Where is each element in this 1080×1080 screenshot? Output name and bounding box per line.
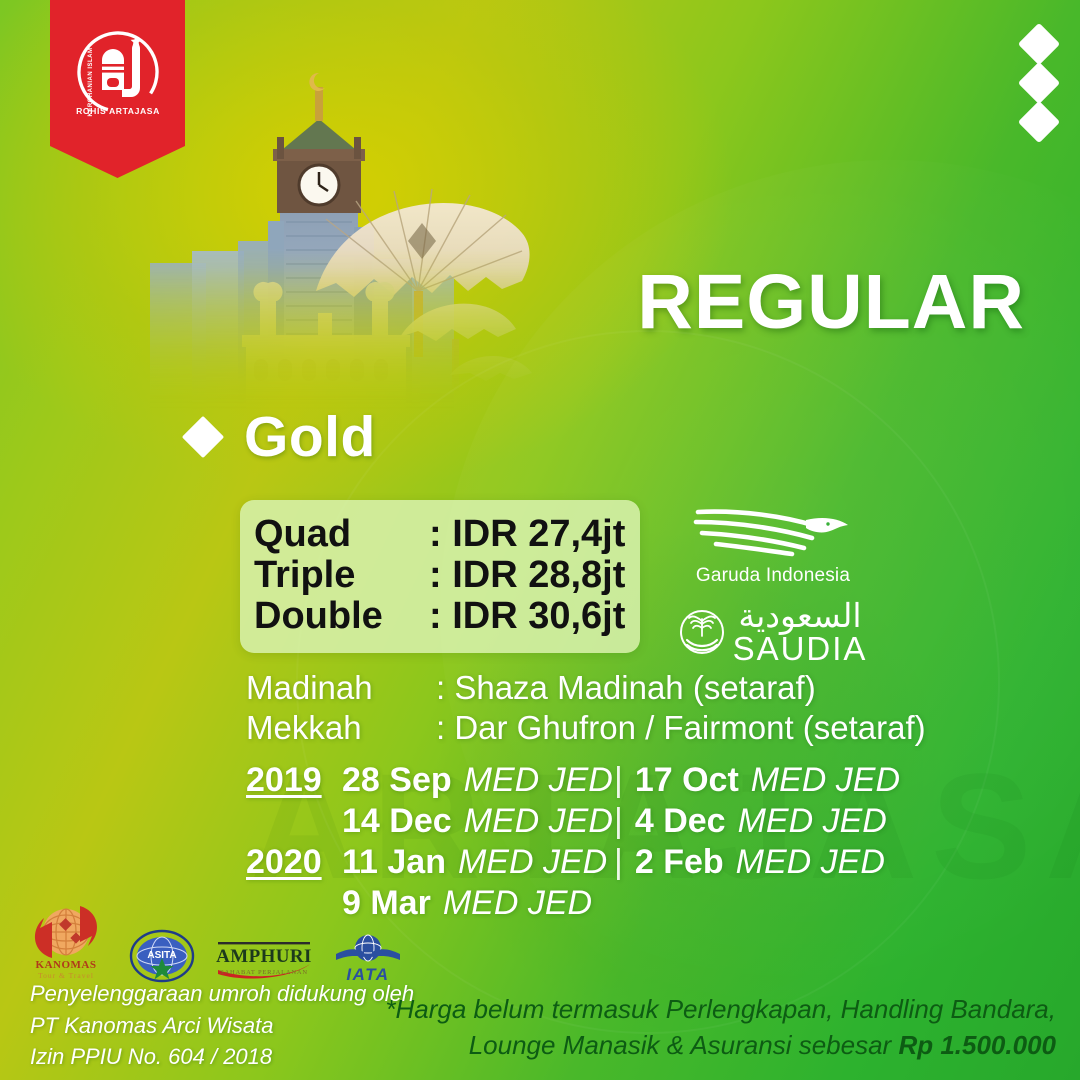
- garuda-indonesia-label: Garuda Indonesia: [668, 565, 878, 587]
- footer-line: PT Kanomas Arci Wisata: [30, 1010, 414, 1041]
- diamond-icon: [1018, 23, 1060, 65]
- schedule-year: 2019: [246, 762, 342, 799]
- price-disclaimer: *Harga belum termasuk Perlengkapan, Hand…: [366, 992, 1056, 1064]
- disclaimer-line-2: Lounge Manasik & Asuransi sebesar Rp 1.5…: [366, 1028, 1056, 1064]
- brand-ribbon: ROHIS ARTAJASA KEROHANIAN ISLAM: [50, 0, 185, 178]
- departure-date: 11 Jan: [342, 844, 446, 881]
- airline-logos: Garuda Indonesia السع: [668, 498, 878, 665]
- schedule-slot: 4 Dec MED JED: [635, 803, 887, 840]
- schedule-separator: |: [614, 803, 623, 840]
- route-label: MED JED: [443, 885, 592, 922]
- route-label: MED JED: [458, 844, 607, 881]
- svg-text:ASITA: ASITA: [147, 950, 176, 961]
- route-label: MED JED: [464, 762, 613, 799]
- price-row: Double : IDR 30,6jt: [240, 596, 640, 637]
- tier-name: Gold: [244, 404, 376, 470]
- departure-date: 28 Sep: [342, 762, 452, 799]
- schedule-row: 2020 11 Jan MED JED | 2 Feb MED JED: [246, 844, 900, 885]
- saudia-latin-label: SAUDIA: [733, 632, 868, 665]
- saudia-palm-swords-icon: [679, 606, 725, 658]
- price-row: Triple : IDR 28,8jt: [240, 555, 640, 596]
- hotel-city-label: Madinah: [246, 668, 436, 708]
- tier-row: Gold: [188, 404, 376, 470]
- schedule-row: 2019 28 Sep MED JED | 17 Oct MED JED: [246, 762, 900, 803]
- diamond-bullet-icon: [182, 416, 224, 458]
- schedule-slot: 17 Oct MED JED: [635, 762, 900, 799]
- saudia-logo: السعودية SAUDIA: [668, 599, 878, 665]
- diamond-icon: [1018, 101, 1060, 143]
- price-value: : IDR 28,8jt: [429, 555, 625, 596]
- schedule-year: 2020: [246, 844, 342, 881]
- schedule-slot: 14 Dec MED JED: [342, 803, 614, 840]
- schedule-slot: 11 Jan MED JED: [342, 844, 614, 881]
- price-label: Triple: [254, 555, 429, 596]
- disclaimer-amount: Rp 1.500.000: [898, 1030, 1056, 1060]
- hotel-name-value: : Dar Ghufron / Fairmont (setaraf): [436, 708, 926, 748]
- asita-logo-icon: ASITA: [128, 928, 196, 984]
- route-label: MED JED: [738, 803, 887, 840]
- hotel-name-value: : Shaza Madinah (setaraf): [436, 668, 816, 708]
- price-row: Quad : IDR 27,4jt: [240, 514, 640, 555]
- partner-logo-row: KANOMAS Tour & Travel ASITA AMPHURI SAHA…: [20, 898, 404, 984]
- svg-text:KEROHANIAN ISLAM: KEROHANIAN ISLAM: [88, 48, 94, 117]
- svg-text:KANOMAS: KANOMAS: [36, 959, 97, 971]
- schedule-separator: |: [614, 762, 623, 799]
- schedule-slot: 2 Feb MED JED: [635, 844, 885, 881]
- schedule-row: 14 Dec MED JED | 4 Dec MED JED: [246, 803, 900, 844]
- hotel-city-label: Mekkah: [246, 708, 436, 748]
- kanomas-logo-icon: KANOMAS Tour & Travel: [20, 898, 112, 984]
- garuda-indonesia-bird-icon: [688, 498, 858, 558]
- schedule-slot: 28 Sep MED JED: [342, 762, 614, 799]
- footer-company-info: Penyelenggaraan umroh didukung oleh PT K…: [30, 978, 414, 1072]
- diamond-decoration-group: [1024, 20, 1054, 146]
- disclaimer-line-1: *Harga belum termasuk Perlengkapan, Hand…: [366, 992, 1056, 1028]
- saudia-arabic-label: السعودية: [733, 599, 868, 632]
- price-label: Quad: [254, 514, 429, 555]
- disclaimer-text: Lounge Manasik & Asuransi sebesar: [469, 1030, 899, 1060]
- route-label: MED JED: [736, 844, 885, 881]
- price-value: : IDR 30,6jt: [429, 596, 625, 637]
- route-label: MED JED: [464, 803, 613, 840]
- hotel-list: Madinah : Shaza Madinah (setaraf) Mekkah…: [246, 668, 926, 749]
- departure-date: 14 Dec: [342, 803, 452, 840]
- hotel-row: Madinah : Shaza Madinah (setaraf): [246, 668, 926, 708]
- svg-text:SAHABAT PERJALANAN: SAHABAT PERJALANAN: [220, 969, 308, 976]
- schedule-separator: |: [614, 844, 623, 881]
- svg-text:AMPHURI: AMPHURI: [216, 946, 312, 967]
- footer-line: Izin PPIU No. 604 / 2018: [30, 1041, 414, 1072]
- package-title: REGULAR: [637, 258, 1025, 347]
- rohis-artajasa-emblem-icon: ROHIS ARTAJASA KEROHANIAN ISLAM: [66, 24, 170, 128]
- price-label: Double: [254, 596, 429, 637]
- departure-date: 4 Dec: [635, 803, 726, 840]
- departure-date: 2 Feb: [635, 844, 724, 881]
- hero-image-makkah-madinah: [150, 45, 540, 415]
- iata-logo-icon: IATA: [332, 930, 404, 984]
- price-value: : IDR 27,4jt: [429, 514, 625, 555]
- footer-line: Penyelenggaraan umroh didukung oleh: [30, 978, 414, 1009]
- route-label: MED JED: [751, 762, 900, 799]
- diamond-icon: [1018, 62, 1060, 104]
- umroh-package-poster: ARTAJASA: [0, 0, 1080, 1080]
- departure-date: 17 Oct: [635, 762, 739, 799]
- hotel-row: Mekkah : Dar Ghufron / Fairmont (setaraf…: [246, 708, 926, 748]
- price-panel: Quad : IDR 27,4jt Triple : IDR 28,8jt Do…: [240, 500, 640, 653]
- amphuri-logo-icon: AMPHURI SAHABAT PERJALANAN: [212, 928, 316, 984]
